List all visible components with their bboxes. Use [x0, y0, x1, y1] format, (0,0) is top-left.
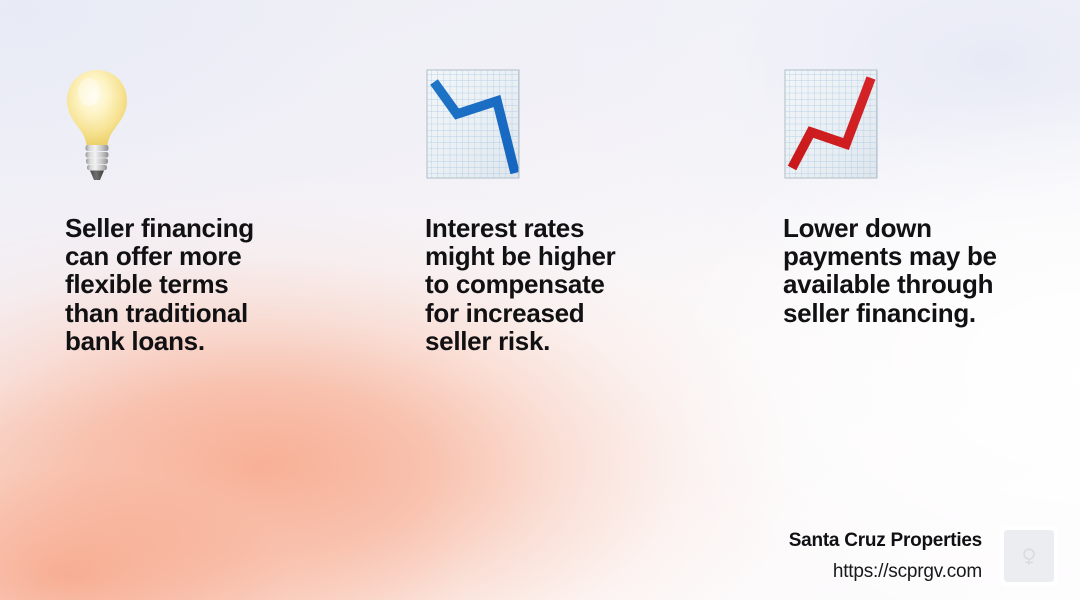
feature-text-2: Interest rates might be higher to compen… [425, 214, 616, 355]
footer-text-group: Santa Cruz Properties https://scprgv.com [789, 531, 982, 581]
chart-increasing-icon [783, 68, 879, 186]
feature-text-3: Lower down payments may be available thr… [783, 214, 997, 327]
light-bulb-icon [65, 68, 129, 186]
chart-decreasing-icon [425, 68, 521, 186]
feature-column-1: Seller financing can offer more flexible… [65, 0, 365, 600]
logo-mark-icon [1018, 545, 1040, 567]
content-columns: Seller financing can offer more flexible… [0, 0, 1080, 600]
feature-column-3: Lower down payments may be available thr… [783, 0, 1048, 600]
brand-url[interactable]: https://scprgv.com [789, 562, 982, 581]
brand-name: Santa Cruz Properties [789, 531, 982, 550]
feature-text-1: Seller financing can offer more flexible… [65, 214, 254, 355]
footer-branding: Santa Cruz Properties https://scprgv.com [789, 526, 1058, 586]
feature-column-2: Interest rates might be higher to compen… [425, 0, 725, 600]
company-logo-placeholder [1000, 526, 1058, 586]
slide-canvas: Seller financing can offer more flexible… [0, 0, 1080, 600]
